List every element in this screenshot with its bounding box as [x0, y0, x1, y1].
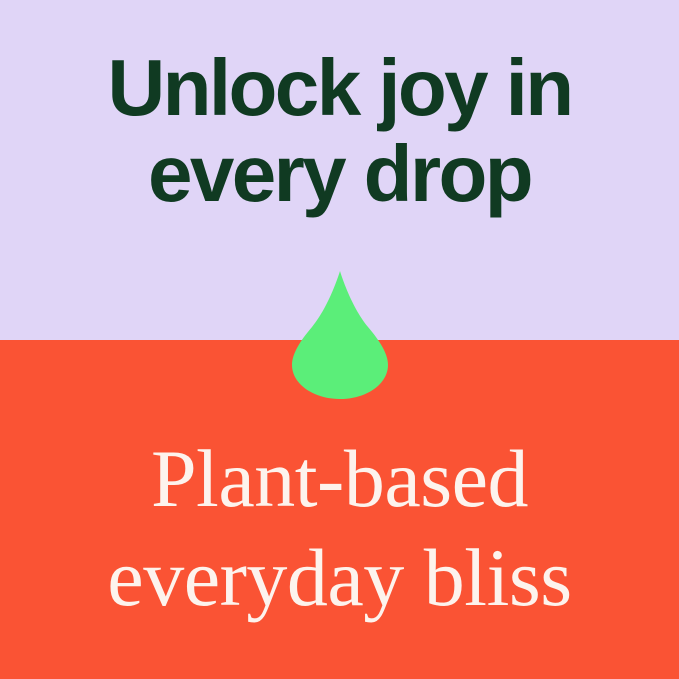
subline-line-1: Plant-based — [151, 436, 528, 521]
headline-block: Unlock joy in every drop — [0, 0, 679, 262]
subline-block: Plant-based everyday bliss — [0, 408, 679, 648]
headline-line-2: every drop — [148, 135, 531, 213]
promo-poster: Unlock joy in every drop Plant-based eve… — [0, 0, 679, 679]
headline-line-1: Unlock joy in — [107, 49, 571, 127]
subline-line-2: everyday bliss — [107, 535, 571, 620]
